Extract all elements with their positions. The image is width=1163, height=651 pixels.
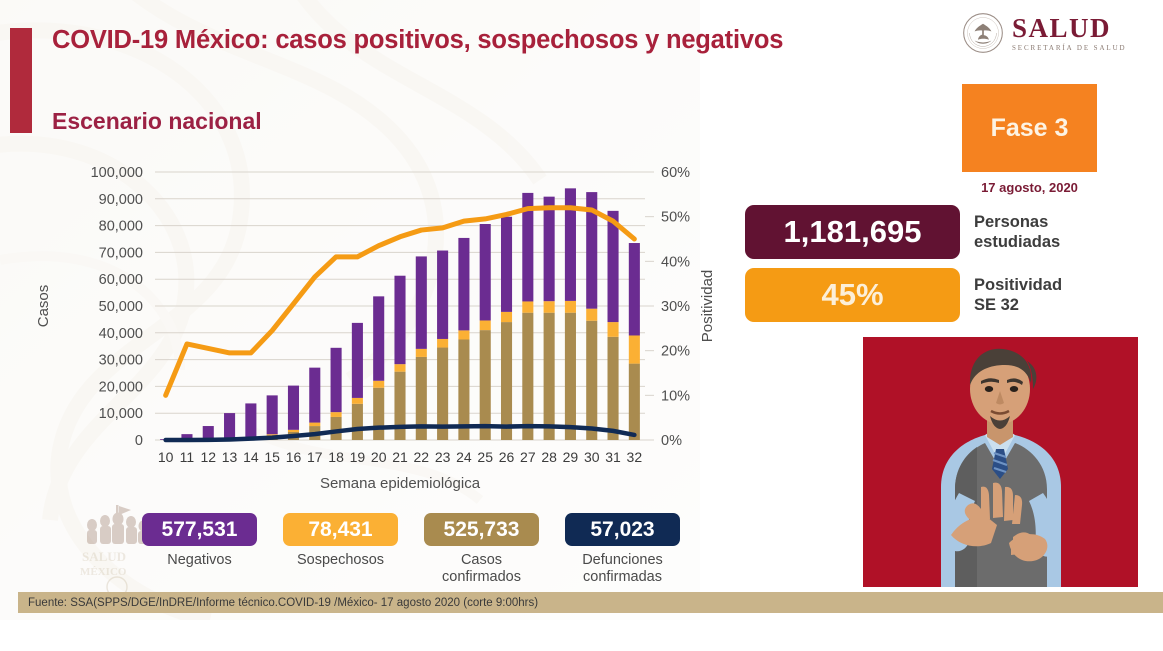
x-axis-tick-label: 28 [541,449,557,465]
y2-axis-tick-label: 60% [661,165,690,181]
bar-segment [501,312,512,322]
stat-value: 1,181,695 [784,214,922,250]
bar-segment [267,395,278,434]
bar-segment [394,364,405,372]
x-axis-tick-label: 13 [222,449,238,465]
y-axis-tick-label: 10,000 [99,406,143,422]
stat-value: 45% [821,277,883,313]
y2-axis-tick-label: 30% [661,299,690,315]
chart-canvas: 010,00020,00030,00040,00050,00060,00070,… [0,150,740,510]
x-axis-tick-label: 16 [286,449,302,465]
y2-axis-tick-label: 20% [661,344,690,360]
bar-segment [608,337,619,440]
svg-text:SALUD: SALUD [82,549,126,564]
salud-subtitle: SECRETARÍA DE SALUD [1012,45,1127,52]
legend-caption: Sospechosos [283,552,398,569]
bar-segment [309,368,320,423]
chart-legend: 577,531Negativos78,431Sospechosos525,733… [142,513,680,585]
bar-segment [544,197,555,302]
y-axis-tick-label: 70,000 [99,245,143,261]
bar-segment [522,313,533,440]
bar-segment [565,313,576,440]
report-date: 17 agosto, 2020 [962,180,1097,195]
y-axis-title: Casos [35,285,52,328]
x-axis-tick-label: 20 [371,449,387,465]
bar-segment [629,335,640,363]
bar-segment [480,224,491,320]
salud-logo: SALUD SECRETARÍA DE SALUD [962,12,1127,54]
x-axis-tick-label: 22 [414,449,430,465]
y-axis-tick-label: 80,000 [99,219,143,235]
legend-caption-line2: confirmadas [565,569,680,586]
x-axis-tick-label: 32 [627,449,643,465]
legend-caption: Casosconfirmados [424,552,539,585]
legend-value-chip: 577,531 [142,513,257,546]
section-subtitle: Escenario nacional [52,108,262,135]
legend-caption-line1: Casos [424,552,539,569]
legend-item: 577,531Negativos [142,513,257,569]
interpreter-figure [863,337,1138,587]
bar-segment [288,386,299,430]
stat-caption-line1: Personas [974,212,1060,232]
x-axis-tick-label: 17 [307,449,323,465]
legend-caption: Defuncionesconfirmadas [565,552,680,585]
legend-value-chip: 525,733 [424,513,539,546]
x-axis-tick-label: 31 [605,449,621,465]
legend-caption-line1: Sospechosos [283,552,398,569]
bar-segment [288,430,299,432]
stat-positividad: 45% Positividad SE 32 [745,268,1062,322]
phase-label: Fase 3 [991,114,1069,143]
bar-segment [586,321,597,440]
y-axis-tick-label: 90,000 [99,192,143,208]
bar-segment [331,412,342,417]
bar-segment [586,309,597,321]
y-axis-tick-label: 0 [135,433,143,449]
covid-cases-chart: 010,00020,00030,00040,00050,00060,00070,… [0,150,740,510]
legend-value-chip: 57,023 [565,513,680,546]
bar-segment [309,423,320,426]
stat-caption: Personas estudiadas [974,212,1060,252]
bar-segment [629,243,640,335]
bar-segment [352,398,363,404]
bar-segment [480,320,491,330]
bar-segment [437,339,448,348]
x-axis-tick-label: 19 [350,449,366,465]
x-axis-tick-label: 12 [200,449,216,465]
y-axis-tick-label: 30,000 [99,353,143,369]
svg-text:MÉXICO: MÉXICO [80,566,127,578]
x-axis-tick-label: 27 [520,449,536,465]
stat-caption-line2: estudiadas [974,232,1060,252]
x-axis-tick-label: 15 [264,449,280,465]
bar-segment [203,426,214,439]
legend-caption-line1: Defunciones [565,552,680,569]
bar-segment [437,251,448,339]
bar-segment [331,348,342,412]
y2-axis-tick-label: 0% [661,433,682,449]
y2-axis-tick-label: 40% [661,254,690,270]
legend-value-chip: 78,431 [283,513,398,546]
x-axis-tick-label: 21 [392,449,408,465]
source-footer: Fuente: SSA(SPPS/DGE/InDRE/Informe técni… [18,592,1163,613]
bar-segment [608,322,619,337]
legend-value: 57,023 [590,518,654,542]
title-accent-bar [10,28,32,133]
salud-wordmark: SALUD [1012,15,1127,42]
bar-segment [373,296,384,380]
stat-caption-line1: Positividad [974,275,1062,295]
legend-item: 525,733Casosconfirmados [424,513,539,585]
legend-value: 577,531 [162,518,238,542]
x-axis-tick-label: 29 [563,449,579,465]
sign-language-interpreter-video[interactable] [863,337,1138,587]
stat-caption-line2: SE 32 [974,295,1062,315]
x-axis-tick-label: 26 [499,449,515,465]
bar-segment [394,372,405,440]
bar-segment [352,404,363,440]
bar-segment [544,313,555,440]
y-axis-tick-label: 60,000 [99,272,143,288]
phase-badge: Fase 3 [962,84,1097,172]
stat-caption: Positividad SE 32 [974,275,1062,315]
legend-item: 78,431Sospechosos [283,513,398,569]
bar-segment [245,403,256,437]
bar-segment [629,364,640,440]
x-axis-tick-label: 24 [456,449,472,465]
bar-segment [501,217,512,312]
x-axis-tick-label: 14 [243,449,259,465]
bar-segment [224,413,235,438]
x-axis-tick-label: 23 [435,449,451,465]
mexico-eagle-emblem-icon [962,12,1004,54]
bar-segment [373,388,384,440]
x-axis-tick-label: 30 [584,449,600,465]
y-axis-tick-label: 50,000 [99,299,143,315]
stat-value-pill: 1,181,695 [745,205,960,259]
x-axis-tick-label: 18 [328,449,344,465]
y2-axis-tick-label: 10% [661,388,690,404]
bar-segment [565,301,576,313]
stat-personas-estudiadas: 1,181,695 Personas estudiadas [745,205,1060,259]
legend-value: 525,733 [444,518,520,542]
legend-caption-line1: Negativos [142,552,257,569]
y-axis-tick-label: 20,000 [99,379,143,395]
source-text: Fuente: SSA(SPPS/DGE/InDRE/Informe técni… [18,597,538,609]
bar-segment [544,301,555,313]
stat-value-pill: 45% [745,268,960,322]
x-axis-tick-label: 10 [158,449,174,465]
bar-segment [458,330,469,339]
bar-segment [416,349,427,357]
bar-segment [373,381,384,388]
legend-caption-line2: confirmados [424,569,539,586]
y2-axis-title: Positividad [699,270,716,343]
bar-segment [565,188,576,301]
bar-segment [501,322,512,440]
legend-value: 78,431 [308,518,372,542]
bar-segment [352,323,363,398]
x-axis-tick-label: 25 [477,449,493,465]
x-axis-tick-label: 11 [180,449,195,465]
x-axis-title: Semana epidemiológica [320,475,481,492]
legend-caption: Negativos [142,552,257,569]
bar-segment [522,301,533,312]
bar-segment [458,238,469,330]
y2-axis-tick-label: 50% [661,210,690,226]
y-axis-tick-label: 40,000 [99,326,143,342]
page-title: COVID-19 México: casos positivos, sospec… [52,26,783,55]
bar-segment [394,276,405,364]
bar-segment [331,417,342,440]
bar-segment [416,256,427,348]
bar-segment [480,330,491,440]
legend-item: 57,023Defuncionesconfirmadas [565,513,680,585]
y-axis-tick-label: 100,000 [91,165,143,181]
